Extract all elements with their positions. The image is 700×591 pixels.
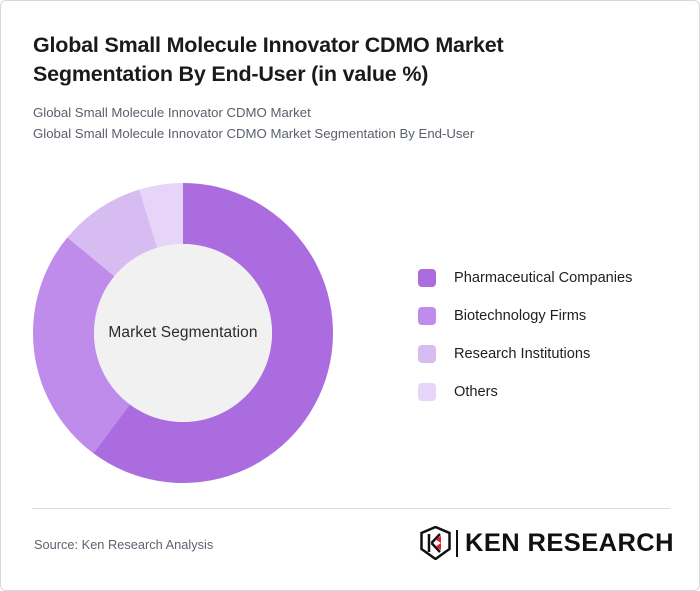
chart-card: Global Small Molecule Innovator CDMO Mar… — [0, 0, 700, 591]
source-text: Source: Ken Research Analysis — [34, 537, 213, 552]
chart-legend: Pharmaceutical CompaniesBiotechnology Fi… — [418, 259, 632, 411]
brand-divider — [456, 530, 458, 557]
donut-chart: Market Segmentation — [32, 182, 334, 484]
subtitle-market: Global Small Molecule Innovator CDMO Mar… — [33, 103, 645, 123]
legend-label: Research Institutions — [454, 346, 590, 362]
subtitle-segmentation: Global Small Molecule Innovator CDMO Mar… — [33, 124, 645, 144]
chart-footer: Source: Ken Research Analysis KEN RESEAR… — [32, 508, 670, 568]
legend-swatch-icon — [418, 307, 436, 325]
legend-item[interactable]: Pharmaceutical Companies — [418, 259, 632, 297]
legend-label: Pharmaceutical Companies — [454, 270, 632, 286]
legend-swatch-icon — [418, 345, 436, 363]
donut-svg — [32, 182, 334, 484]
donut-hole — [94, 244, 272, 422]
brand-name: KEN RESEARCH — [465, 531, 674, 556]
ken-research-hexagon-k-icon — [420, 526, 451, 560]
legend-item[interactable]: Biotechnology Firms — [418, 297, 632, 335]
legend-swatch-icon — [418, 269, 436, 287]
page-title: Global Small Molecule Innovator CDMO Mar… — [33, 31, 645, 88]
legend-item[interactable]: Research Institutions — [418, 335, 632, 373]
chart-header: Global Small Molecule Innovator CDMO Mar… — [33, 31, 645, 144]
legend-swatch-icon — [418, 383, 436, 401]
brand-logo: KEN RESEARCH — [420, 526, 670, 560]
chart-area: Market Segmentation Pharmaceutical Compa… — [1, 171, 700, 501]
breadcrumb: Global Small Molecule Innovator CDMO Mar… — [33, 103, 645, 144]
legend-item[interactable]: Others — [418, 373, 632, 411]
legend-label: Others — [454, 384, 498, 400]
legend-label: Biotechnology Firms — [454, 308, 586, 324]
